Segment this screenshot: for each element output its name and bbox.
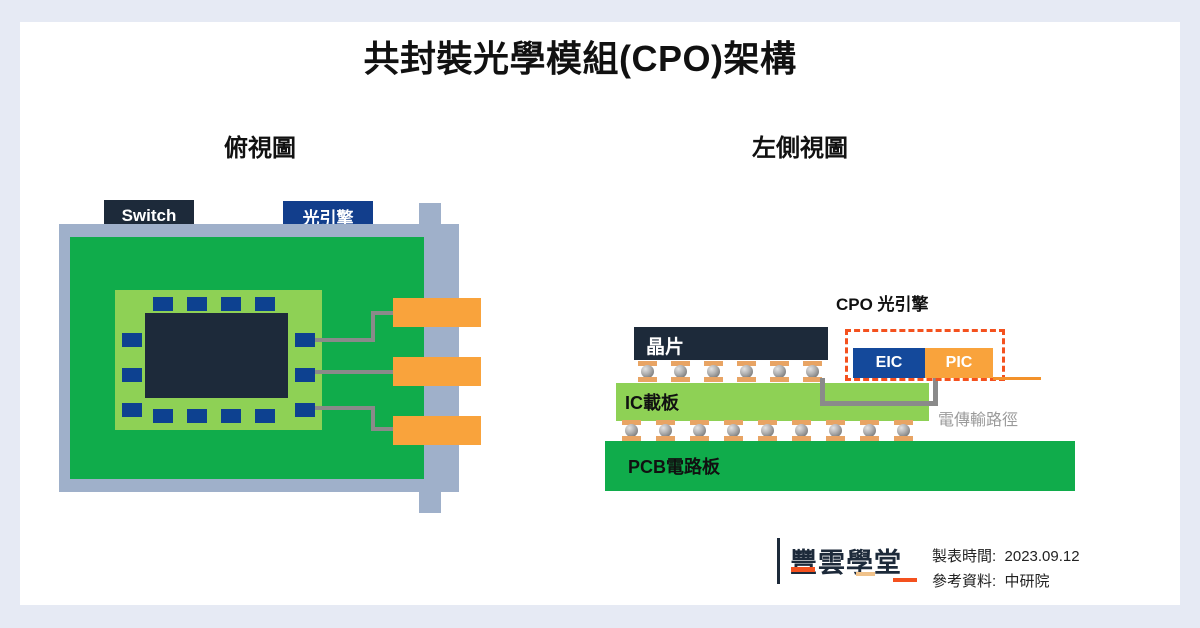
pad-bottom-3	[221, 409, 241, 423]
ball-pad-bottom	[770, 377, 789, 382]
footer-date: 製表時間: 2023.09.12	[932, 545, 1080, 566]
solder-ball-bottom-1	[622, 420, 641, 441]
pad-right-1	[295, 333, 315, 347]
trace-2-seg-h	[315, 370, 397, 374]
trace-1-seg-h	[315, 338, 375, 342]
logo-accent-icon	[791, 567, 815, 572]
footer-source-value: 中研院	[1005, 573, 1050, 590]
pad-top-2	[187, 297, 207, 311]
transmission-path-label: 電傳輸路徑	[938, 406, 1018, 430]
ic-carrier-label: IC載板	[625, 389, 679, 415]
pad-left-1	[122, 333, 142, 347]
pic-block: PIC	[925, 348, 993, 378]
pad-bottom-4	[255, 409, 275, 423]
pad-bottom-2	[187, 409, 207, 423]
solder-ball-bottom-2	[656, 420, 675, 441]
pic-label: PIC	[925, 354, 993, 372]
pad-top-4	[255, 297, 275, 311]
footer-source-label: 參考資料:	[932, 573, 996, 590]
eic-label: EIC	[853, 354, 925, 372]
solder-ball-bottom-4	[724, 420, 743, 441]
pad-top-1	[153, 297, 173, 311]
cpo-engine-label: CPO 光引擎	[836, 290, 929, 315]
solder-ball-top-1	[638, 361, 657, 382]
footer-divider	[777, 538, 780, 584]
solder-ball-top-2	[671, 361, 690, 382]
pad-right-2	[295, 368, 315, 382]
ball-pad-bottom	[671, 377, 690, 382]
ball-pad-bottom	[638, 377, 657, 382]
ball-pad-bottom	[737, 377, 756, 382]
solder-ball-bottom-9	[894, 420, 913, 441]
switch-die-topview	[145, 313, 288, 398]
page-title: 共封裝光學模組(CPO)架構	[0, 30, 1160, 82]
solder-ball-top-3	[704, 361, 723, 382]
trace-3-seg-h	[315, 406, 375, 410]
optical-connector-3	[393, 416, 481, 445]
slide-canvas: 共封裝光學模組(CPO)架構 俯視圖 左側視圖 Switch 光引擎 CPO 光…	[0, 0, 1200, 628]
ball-pad-bottom	[704, 377, 723, 382]
top-view-subtitle: 俯視圖	[150, 128, 370, 163]
pcb-label: PCB電路板	[628, 453, 720, 479]
footer-date-label: 製表時間:	[932, 548, 996, 565]
optical-connector-2	[393, 357, 481, 386]
solder-ball-bottom-6	[792, 420, 811, 441]
pad-bottom-1	[153, 409, 173, 423]
pad-right-3	[295, 403, 315, 417]
pad-left-3	[122, 403, 142, 417]
pad-left-2	[122, 368, 142, 382]
trace-side-h-bottom	[820, 401, 938, 406]
footer-date-value: 2023.09.12	[1005, 548, 1080, 565]
footer-source: 參考資料: 中研院	[932, 570, 1050, 591]
optical-connector-1	[393, 298, 481, 327]
solder-ball-bottom-7	[826, 420, 845, 441]
solder-ball-bottom-5	[758, 420, 777, 441]
optical-fiber-line	[993, 377, 1041, 380]
eic-block: EIC	[853, 348, 925, 378]
side-view-subtitle: 左側視圖	[680, 128, 920, 163]
solder-ball-bottom-8	[860, 420, 879, 441]
pad-top-3	[221, 297, 241, 311]
solder-ball-top-4	[737, 361, 756, 382]
brand-logo: 豐雲學堂	[790, 541, 902, 580]
solder-ball-top-5	[770, 361, 789, 382]
logo-accent-icon	[856, 572, 875, 576]
logo-accent-icon	[893, 578, 917, 582]
die-label: 晶片	[646, 332, 684, 359]
trace-1-seg-v	[371, 311, 375, 342]
solder-ball-bottom-3	[690, 420, 709, 441]
